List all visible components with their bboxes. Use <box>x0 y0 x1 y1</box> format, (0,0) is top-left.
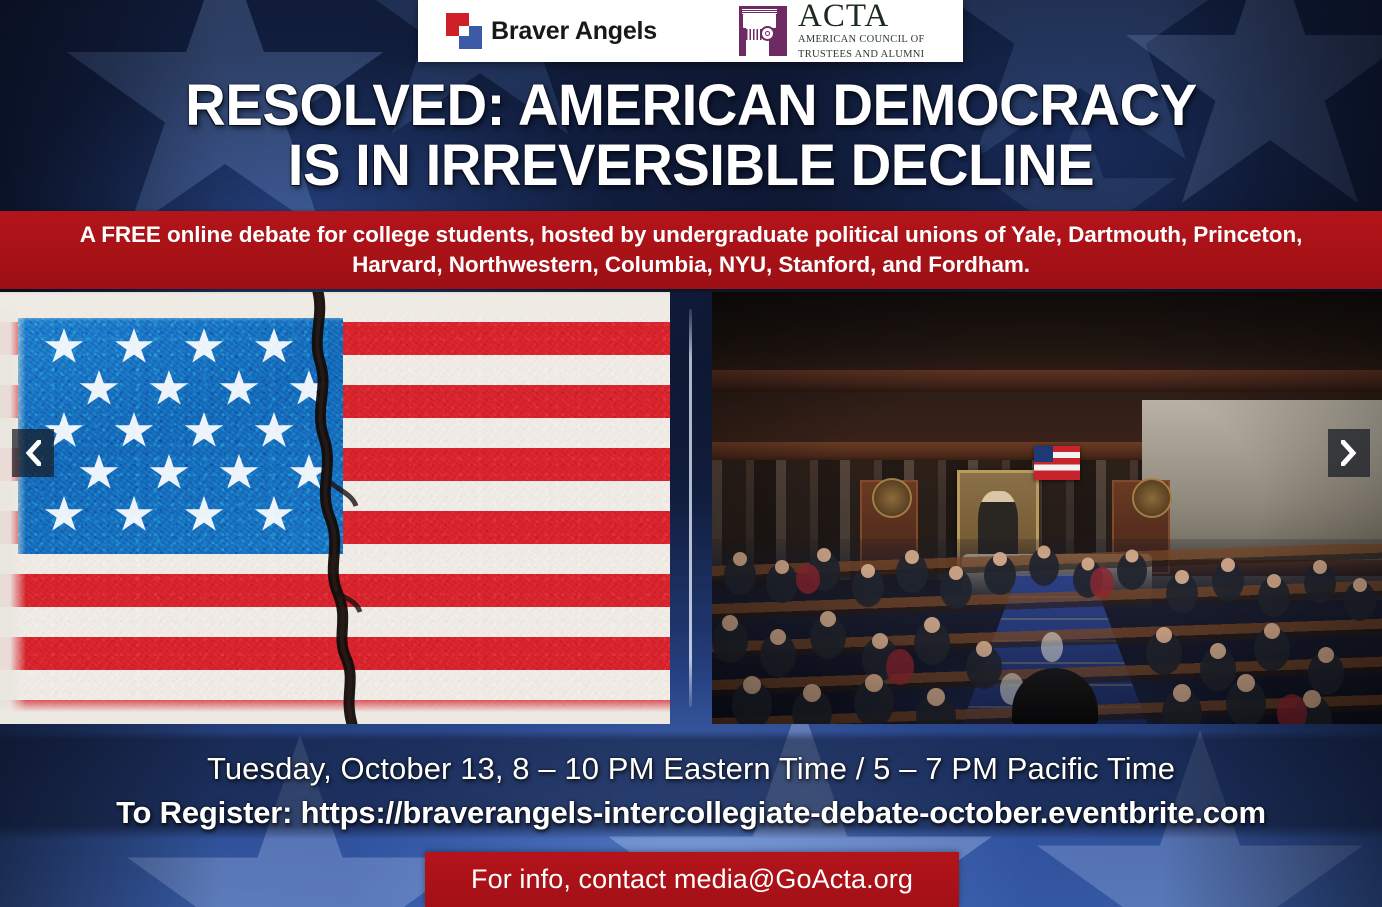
chamber-us-flag-icon <box>1034 446 1080 480</box>
acta-full-name-line1: American Council of <box>798 34 925 47</box>
acta-logo: ACTA American Council of Trustees and Al… <box>739 1 925 62</box>
chevron-left-icon <box>25 440 41 466</box>
acta-full-name-line2: Trustees and Alumni <box>798 49 925 62</box>
acta-ionic-column-icon <box>739 6 787 56</box>
sponsor-logo-bar: Braver Angels ACTA American Council of T… <box>418 0 963 62</box>
poster-headline: RESOLVED: AMERICAN DEMOCRACY IS IN IRREV… <box>0 76 1382 197</box>
acta-acronym: ACTA <box>798 1 925 32</box>
flag-edge-wear <box>0 292 670 724</box>
braver-angels-logo: Braver Angels <box>446 13 657 49</box>
carousel-prev-arrow[interactable] <box>12 429 54 477</box>
congress-chamber-photo <box>712 292 1382 724</box>
event-datetime: Tuesday, October 13, 8 – 10 PM Eastern T… <box>0 731 1382 787</box>
registration-line[interactable]: To Register: https://braverangels-interc… <box>0 787 1382 831</box>
acta-wordmark-group: ACTA American Council of Trustees and Al… <box>798 1 925 62</box>
event-details: Tuesday, October 13, 8 – 10 PM Eastern T… <box>0 731 1382 839</box>
contact-bar: For info, contact media@GoActa.org <box>425 852 959 907</box>
headline-line-2: IS IN IRREVERSIBLE DECLINE <box>21 136 1362 196</box>
cracked-american-flag-photo <box>0 292 670 724</box>
subtitle-banner: A FREE online debate for college student… <box>0 211 1382 289</box>
carousel-next-arrow[interactable] <box>1328 429 1370 477</box>
photo-divider <box>689 309 692 707</box>
braver-angels-wordmark: Braver Angels <box>491 17 657 46</box>
event-poster: Braver Angels ACTA American Council of T… <box>0 0 1382 907</box>
contact-text[interactable]: For info, contact media@GoActa.org <box>471 864 913 895</box>
subtitle-banner-text: A FREE online debate for college student… <box>0 220 1382 281</box>
chevron-right-icon <box>1341 440 1357 466</box>
braver-angels-squares-icon <box>446 13 482 49</box>
headline-line-1: RESOLVED: AMERICAN DEMOCRACY <box>21 76 1362 136</box>
image-row <box>0 289 1382 731</box>
